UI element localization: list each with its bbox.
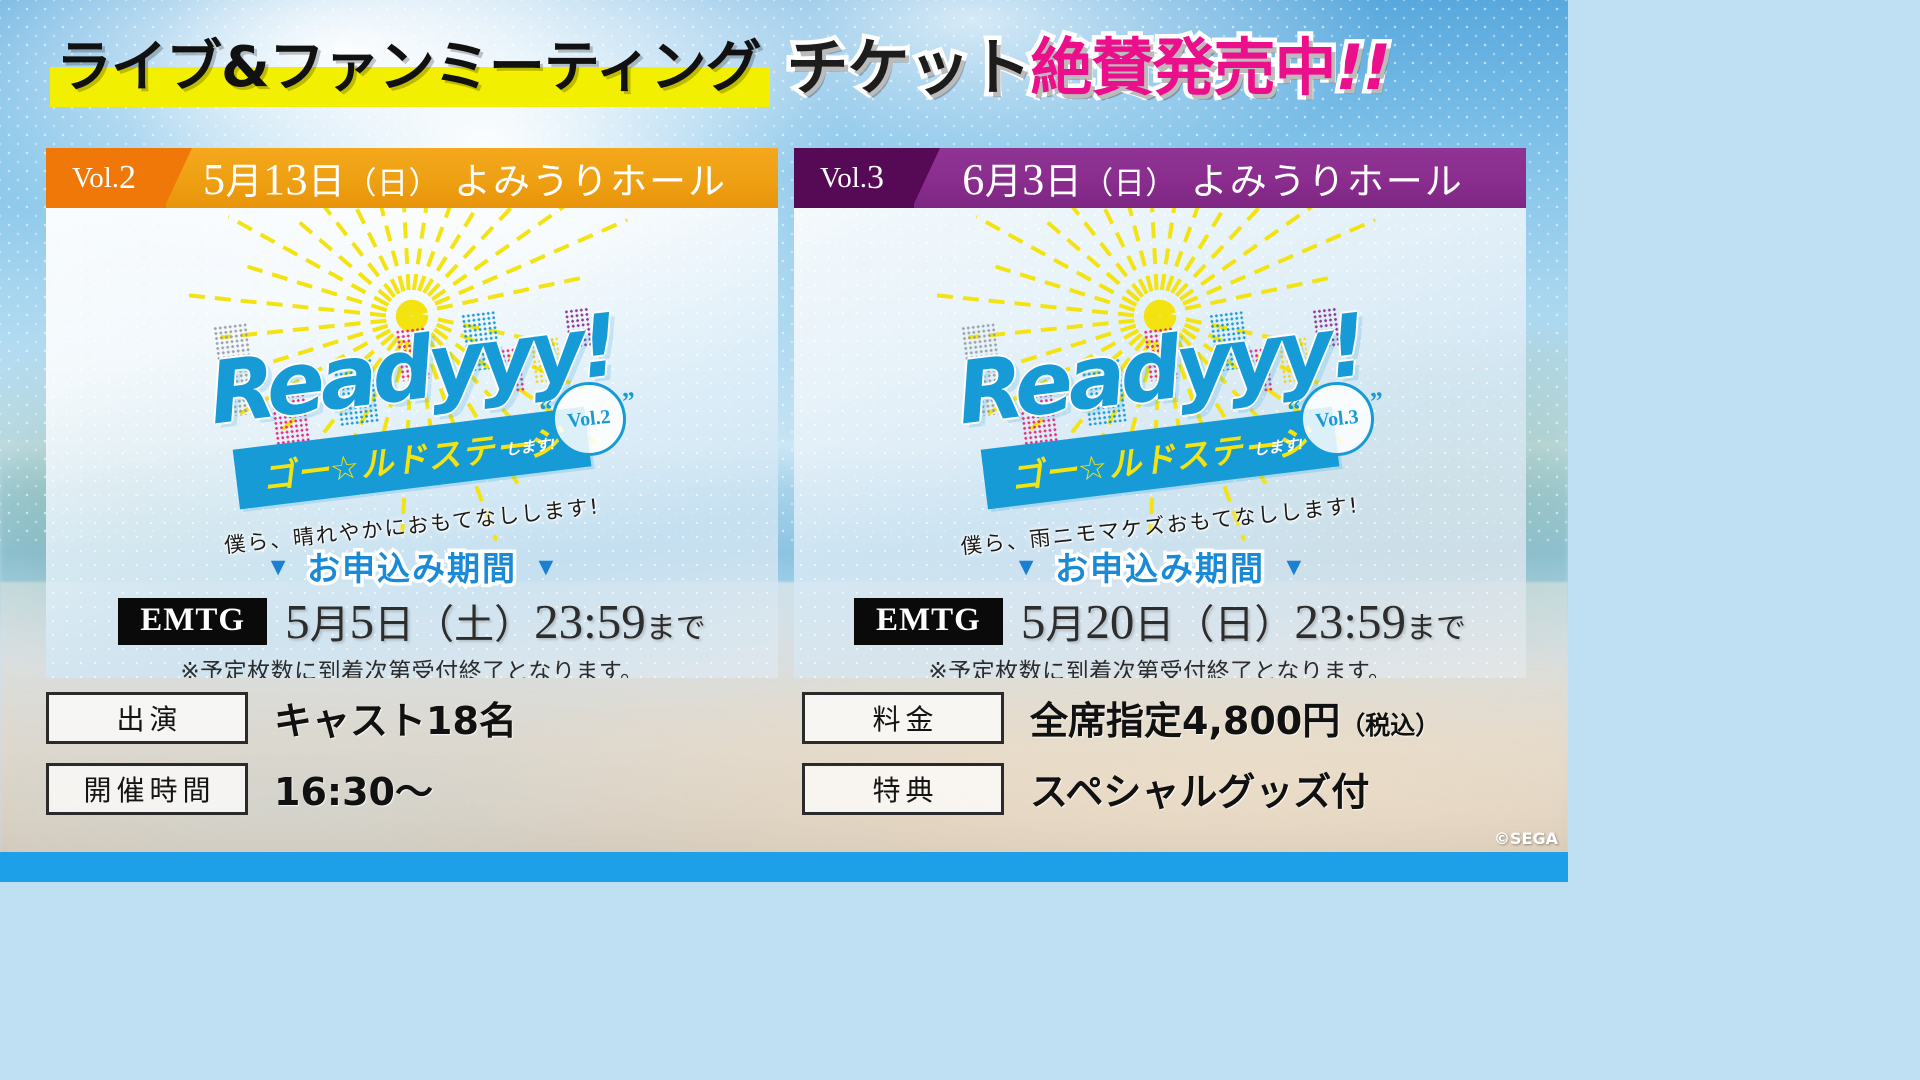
- deadline-text: 5月5日（土）23:59まで: [285, 592, 706, 650]
- info-table-right: 料金 全席指定4,800円（税込） 特典 スペシャルグッズ付: [802, 690, 1502, 832]
- deadline-time: 23:59: [534, 594, 646, 649]
- headline-exclamation: !!: [1336, 31, 1391, 104]
- event-month-unit: 月: [985, 162, 1023, 203]
- event-weekday: （日）: [346, 166, 441, 201]
- price-tax-note: （税込）: [1340, 711, 1440, 740]
- apply-note-vol2: ※予定枚数に到着次第受付終了となります。: [46, 652, 778, 678]
- quote-right-icon: ”: [621, 386, 637, 417]
- headline-sale-group: チケット絶賛発売中!!: [786, 17, 1390, 107]
- deadline-time: 23:59: [1294, 594, 1406, 649]
- info-label-cast: 出演: [46, 692, 248, 744]
- apply-note-vol3: ※予定枚数に到着次第受付終了となります。: [794, 652, 1526, 678]
- emtg-badge: EMTG: [854, 598, 1003, 645]
- event-panel-vol3: Vol.3 6月3日（日）よみうりホール Readyyy! ゴー☆ルドステージ …: [794, 148, 1526, 678]
- deadline-day-number: 5: [350, 594, 375, 649]
- deadline-suffix: まで: [646, 612, 706, 645]
- triangle-left-icon: ▼: [266, 553, 291, 581]
- info-label-bonus: 特典: [802, 763, 1004, 815]
- event-date-vol3: 6月3日（日）よみうりホール: [914, 151, 1526, 205]
- vol-number: 2: [119, 159, 136, 197]
- deadline-weekday: （日）: [1174, 602, 1294, 647]
- headline-ticket-label: チケット: [786, 31, 1030, 104]
- headline-highlight-group: ライブ&ファンミーティング: [56, 22, 760, 103]
- deadline-weekday: （土）: [414, 602, 534, 647]
- event-month-number: 5: [203, 155, 226, 204]
- apply-deadline-vol3: EMTG 5月20日（日）23:59まで: [794, 592, 1526, 650]
- info-label-time: 開催時間: [46, 763, 248, 815]
- info-value-time: 16:30〜: [274, 761, 433, 816]
- apply-deadline-vol2: EMTG 5月5日（土）23:59まで: [46, 592, 778, 650]
- event-month-number: 6: [962, 155, 985, 204]
- deadline-day-number: 20: [1085, 594, 1134, 649]
- apply-period-label: お申込み期間: [1055, 549, 1265, 588]
- info-value-cast: キャスト18名: [274, 690, 517, 745]
- info-row: 開催時間 16:30〜: [46, 761, 686, 816]
- vol-bubble-label: Vol.3: [1314, 405, 1359, 432]
- event-weekday: （日）: [1082, 166, 1177, 201]
- emtg-badge: EMTG: [118, 598, 267, 645]
- info-value-price: 全席指定4,800円（税込）: [1030, 690, 1440, 745]
- headline-on-sale-label: 絶賛発売中: [1031, 31, 1336, 104]
- info-row: 出演 キャスト18名: [46, 690, 686, 745]
- triangle-right-icon: ▼: [1281, 553, 1306, 581]
- panel-body-vol2: Readyyy! ゴー☆ルドステージ します! “ Vol.2 ” 僕ら、晴れや…: [46, 208, 778, 678]
- event-date-vol2: 5月13日（日）よみうりホール: [166, 151, 778, 205]
- deadline-month-number: 5: [285, 594, 310, 649]
- apply-period-label: お申込み期間: [307, 549, 517, 588]
- vol-badge-vol3: Vol.3: [794, 148, 914, 208]
- event-venue: よみうりホール: [1191, 162, 1464, 203]
- deadline-month-number: 5: [1021, 594, 1046, 649]
- event-venue: よみうりホール: [454, 162, 727, 203]
- apply-period-heading-vol2: ▼ お申込み期間 ▼: [46, 542, 778, 590]
- readyyy-logo-vol2: Readyyy! ゴー☆ルドステージ します! “ Vol.2 ” 僕ら、晴れや…: [46, 286, 778, 516]
- quote-right-icon: ”: [1369, 386, 1385, 417]
- readyyy-logo-vol3: Readyyy! ゴー☆ルドステージ します! “ Vol.3 ” 僕ら、雨ニモ…: [794, 286, 1526, 516]
- event-day-number: 13: [263, 155, 308, 204]
- info-row: 特典 スペシャルグッズ付: [802, 761, 1502, 816]
- headline-live-fanmeeting: ライブ&ファンミーティング: [56, 35, 760, 100]
- deadline-month-unit: 月: [310, 602, 350, 647]
- deadline-text: 5月20日（日）23:59まで: [1021, 592, 1466, 650]
- panel-header-vol3: Vol.3 6月3日（日）よみうりホール: [794, 148, 1526, 208]
- info-row: 料金 全席指定4,800円（税込）: [802, 690, 1502, 745]
- event-day-number: 3: [1022, 155, 1045, 204]
- apply-period-heading-vol3: ▼ お申込み期間 ▼: [794, 542, 1526, 590]
- vol-bubble-label: Vol.2: [566, 405, 611, 432]
- event-day-unit: 日: [308, 162, 346, 203]
- deadline-day-unit: 日: [374, 602, 414, 647]
- vol-number: 3: [867, 159, 884, 197]
- info-value-bonus: スペシャルグッズ付: [1030, 761, 1369, 816]
- event-panel-vol2: Vol.2 5月13日（日）よみうりホール Readyyy! ゴー☆ルドステージ…: [46, 148, 778, 678]
- page-title: ライブ&ファンミーティング チケット絶賛発売中!!: [0, 14, 1568, 110]
- deadline-day-unit: 日: [1134, 602, 1174, 647]
- info-table-left: 出演 キャスト18名 開催時間 16:30〜: [46, 690, 686, 832]
- price-amount: 全席指定4,800円: [1030, 699, 1340, 743]
- panel-body-vol3: Readyyy! ゴー☆ルドステージ します! “ Vol.3 ” 僕ら、雨ニモ…: [794, 208, 1526, 678]
- copyright-notice: ©SEGA: [1494, 829, 1558, 848]
- footer-bar: [0, 852, 1568, 882]
- vol-badge-vol2: Vol.2: [46, 148, 166, 208]
- deadline-month-unit: 月: [1045, 602, 1085, 647]
- event-day-unit: 日: [1045, 162, 1083, 203]
- vol-label: Vol.: [72, 162, 119, 195]
- info-label-price: 料金: [802, 692, 1004, 744]
- vol-label: Vol.: [820, 162, 867, 195]
- event-month-unit: 月: [226, 162, 264, 203]
- triangle-left-icon: ▼: [1014, 553, 1039, 581]
- deadline-suffix: まで: [1406, 612, 1466, 645]
- triangle-right-icon: ▼: [533, 553, 558, 581]
- panel-header-vol2: Vol.2 5月13日（日）よみうりホール: [46, 148, 778, 208]
